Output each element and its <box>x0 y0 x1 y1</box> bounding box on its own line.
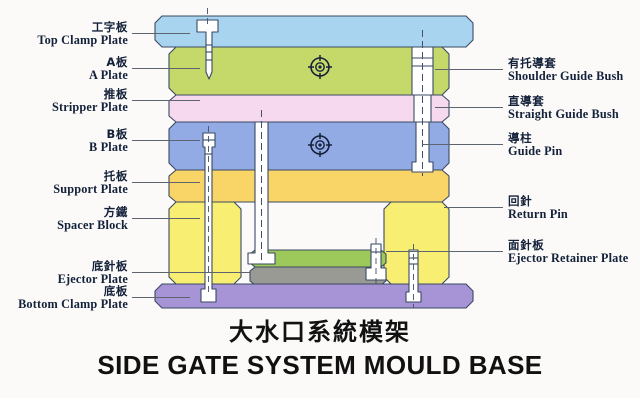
label-en: Return Pin <box>508 208 568 221</box>
leader-straight-guide-bush <box>435 107 503 108</box>
title-chinese: 大水口系統模架 <box>0 312 640 347</box>
leader-ejector-retainer-plate <box>386 251 503 252</box>
title-english: SIDE GATE SYSTEM MOULD BASE <box>0 350 640 381</box>
label-cn: B板 <box>89 129 128 141</box>
diagram-page: 工字板 Top Clamp Plate A板 A Plate 推板 Stripp… <box>0 0 640 410</box>
label-cn: 底針板 <box>58 261 128 273</box>
label-straight-guide-bush: 直導套 Straight Guide Bush <box>508 96 619 121</box>
label-guide-pin: 導柱 Guide Pin <box>508 133 562 158</box>
leader-a-plate <box>132 68 200 69</box>
label-return-pin: 回針 Return Pin <box>508 196 568 221</box>
label-en: Straight Guide Bush <box>508 108 619 121</box>
label-en: Shoulder Guide Bush <box>508 70 623 83</box>
title-block: 大水口系統模架 SIDE GATE SYSTEM MOULD BASE <box>0 312 640 381</box>
leader-stripper-plate <box>132 100 200 101</box>
label-b-plate: B板 B Plate <box>89 129 128 154</box>
leader-b-plate <box>132 140 200 141</box>
label-ejector-retainer-plate: 面針板 Ejector Retainer Plate <box>508 240 628 265</box>
label-bottom-clamp-plate: 底板 Bottom Clamp Plate <box>18 286 128 311</box>
label-cn: 工字板 <box>37 22 128 34</box>
label-en: Spacer Block <box>57 219 128 232</box>
plate-stripper <box>169 95 449 122</box>
leader-spacer-block <box>132 218 200 219</box>
bottom-white-strip <box>0 398 640 410</box>
label-cn: 方鐵 <box>57 207 128 219</box>
label-cn: 推板 <box>52 89 128 101</box>
label-en: Support Plate <box>53 183 128 196</box>
label-support-plate: 托板 Support Plate <box>53 171 128 196</box>
leader-shoulder-guide-bush <box>435 69 503 70</box>
label-ejector-plate: 底針板 Ejector Plate <box>58 261 128 286</box>
label-cn: 直導套 <box>508 96 619 108</box>
leader-guide-pin <box>423 144 503 145</box>
label-en: Guide Pin <box>508 145 562 158</box>
leader-support-plate <box>132 182 200 183</box>
label-cn: A板 <box>89 57 128 69</box>
leader-top-clamp-plate <box>132 33 190 34</box>
leader-ejector-plate <box>132 272 250 273</box>
label-en: Top Clamp Plate <box>37 34 128 47</box>
label-cn: 面針板 <box>508 240 628 252</box>
label-en: A Plate <box>89 69 128 82</box>
label-stripper-plate: 推板 Stripper Plate <box>52 89 128 114</box>
leader-return-pin <box>444 207 503 208</box>
label-cn: 有托導套 <box>508 58 623 70</box>
leader-bottom-clamp-plate <box>132 297 190 298</box>
label-a-plate: A板 A Plate <box>89 57 128 82</box>
label-spacer-block: 方鐵 Spacer Block <box>57 207 128 232</box>
label-cn: 回針 <box>508 196 568 208</box>
label-en: Bottom Clamp Plate <box>18 298 128 311</box>
label-cn: 托板 <box>53 171 128 183</box>
label-cn: 導柱 <box>508 133 562 145</box>
label-en: Ejector Retainer Plate <box>508 252 628 265</box>
label-en: Stripper Plate <box>52 101 128 114</box>
label-cn: 底板 <box>18 286 128 298</box>
label-en: B Plate <box>89 141 128 154</box>
label-top-clamp-plate: 工字板 Top Clamp Plate <box>37 22 128 47</box>
label-shoulder-guide-bush: 有托導套 Shoulder Guide Bush <box>508 58 623 83</box>
